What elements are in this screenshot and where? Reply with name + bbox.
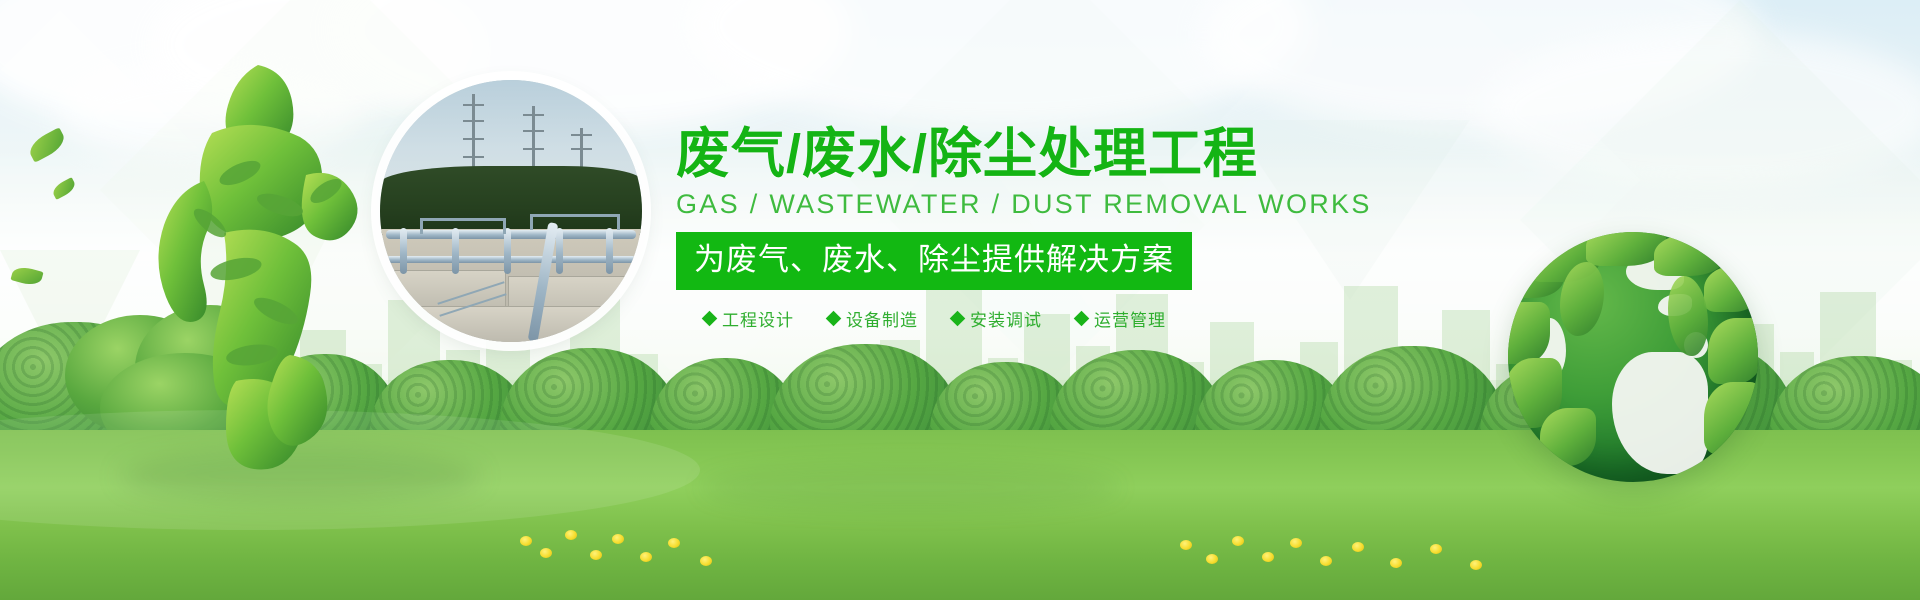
bullet-label: 安装调试 xyxy=(970,306,1042,331)
headline-chinese: 废气/废水/除尘处理工程 xyxy=(676,124,1456,184)
headline-block: 废气/废水/除尘处理工程 GAS / WASTEWATER / DUST REM… xyxy=(676,124,1456,331)
bullet-item[interactable]: 安装调试 xyxy=(952,306,1042,331)
headline-english: GAS / WASTEWATER / DUST REMOVAL WORKS xyxy=(676,188,1456,220)
facility-photo xyxy=(380,80,642,342)
bullet-label: 工程设计 xyxy=(722,306,794,331)
slogan-bar: 为废气、废水、除尘提供解决方案 xyxy=(676,232,1192,290)
photo-pipe xyxy=(400,228,407,274)
bullet-label: 运营管理 xyxy=(1094,306,1166,331)
photo-pipe xyxy=(556,228,563,274)
photo-pipe xyxy=(452,228,459,274)
photo-pipe xyxy=(504,228,511,274)
bullet-item[interactable]: 运营管理 xyxy=(1076,306,1166,331)
photo-pipe xyxy=(606,228,613,274)
green-globe xyxy=(1508,232,1758,482)
photo-pipe xyxy=(386,256,636,263)
diamond-icon xyxy=(1074,311,1090,327)
diamond-icon xyxy=(702,311,718,327)
bullet-item[interactable]: 设备制造 xyxy=(828,306,918,331)
bullet-label: 设备制造 xyxy=(846,306,918,331)
diamond-icon xyxy=(950,311,966,327)
diamond-icon xyxy=(826,311,842,327)
eco-engineering-banner: 废气/废水/除尘处理工程 GAS / WASTEWATER / DUST REM… xyxy=(0,0,1920,600)
leaf-man-mascot xyxy=(140,55,370,475)
service-bullets: 工程设计 设备制造 安装调试 运营管理 xyxy=(704,306,1456,331)
photo-pipe xyxy=(386,230,636,239)
bullet-item[interactable]: 工程设计 xyxy=(704,306,794,331)
